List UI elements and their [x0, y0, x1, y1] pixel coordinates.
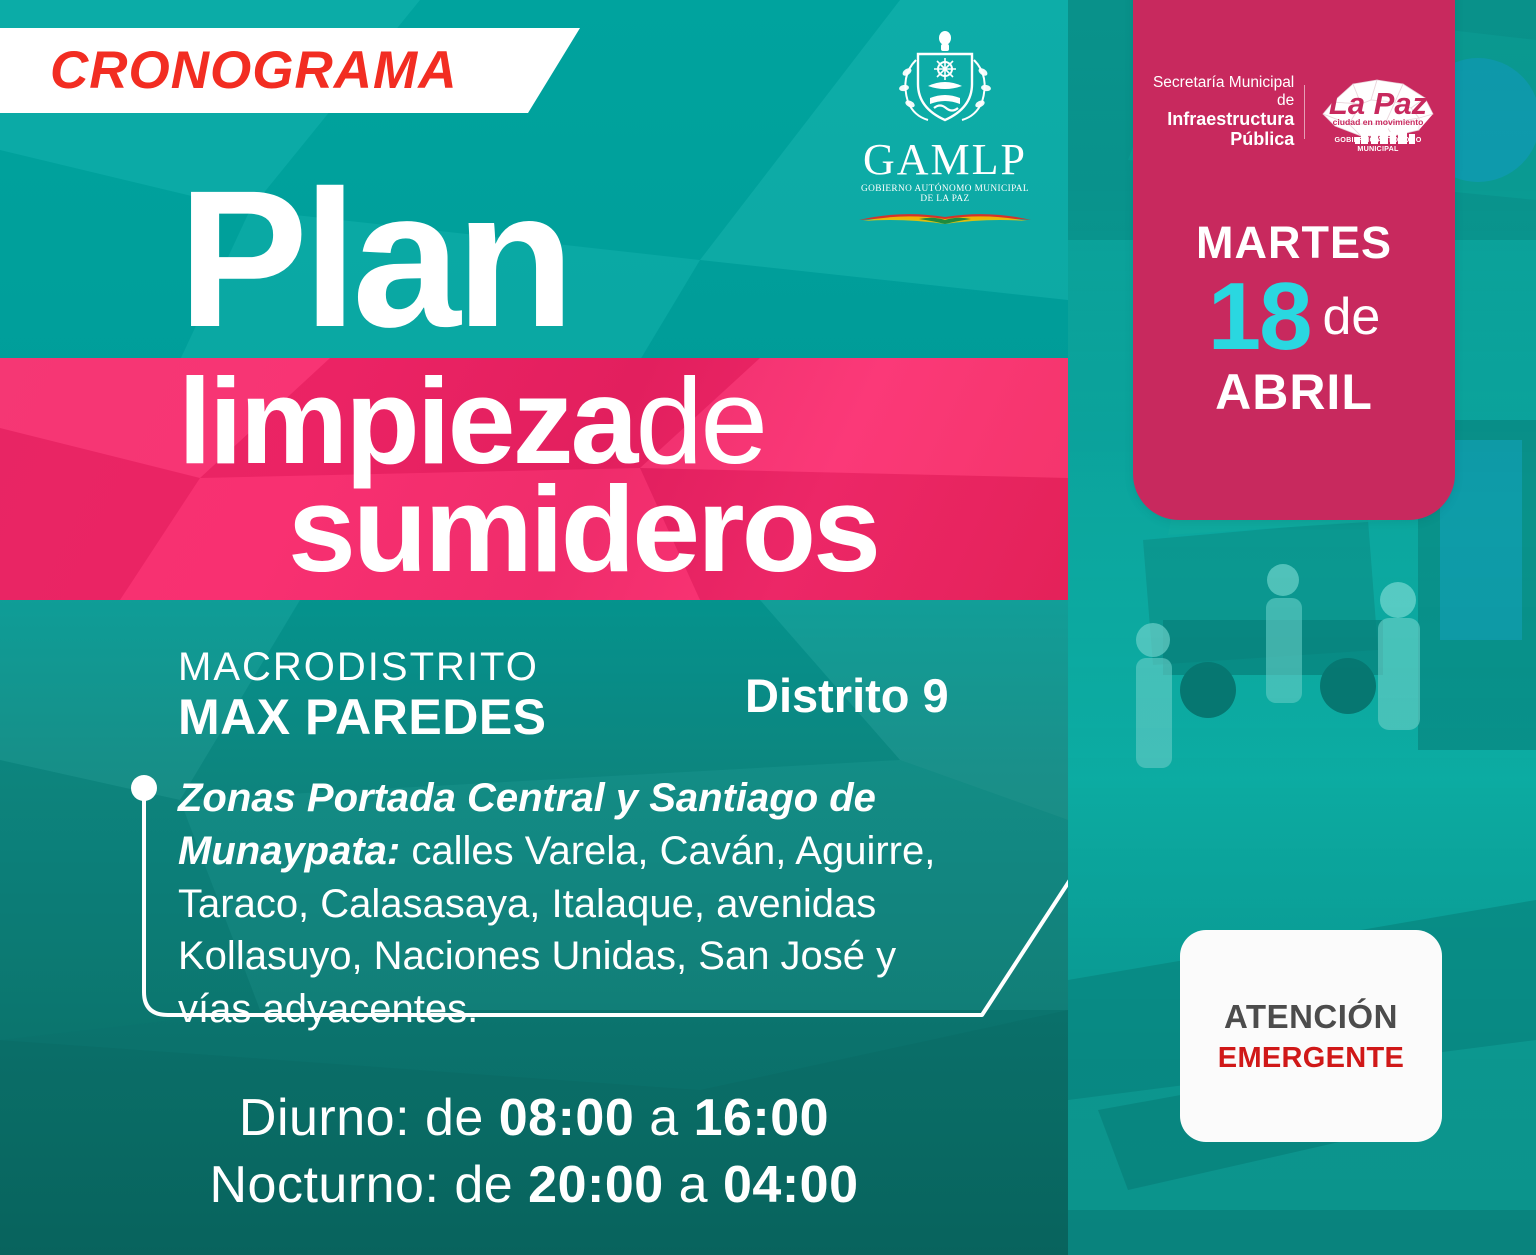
bolivia-flag-ribbon-icon	[857, 208, 1033, 228]
gamlp-subtitle: GOBIERNO AUTÓNOMO MUNICIPAL DE LA PAZ	[855, 184, 1035, 204]
svg-text:ciudad en movimiento: ciudad en movimiento	[1333, 117, 1424, 127]
attention-badge: ATENCIÓN EMERGENTE	[1180, 930, 1442, 1142]
schedule-day-end: 16:00	[694, 1089, 830, 1147]
secretaria-text: Secretaría Municipal de Infraestructura …	[1151, 74, 1294, 149]
schedule-block: Diurno: de 08:00 a 16:00 Nocturno: de 20…	[0, 1085, 1068, 1218]
title-line-sumideros: sumideros	[288, 468, 878, 590]
date-month: ABRIL	[1133, 367, 1455, 417]
schedule-night-end: 04:00	[723, 1156, 859, 1214]
lapaz-logo: La Paz ciudad en movimiento GOBIERNO AUT…	[1315, 74, 1441, 150]
macrodistrict-block: MACRODISTRITO MAX PAREDES	[178, 645, 547, 747]
date-card: Secretaría Municipal de Infraestructura …	[1133, 0, 1455, 520]
cronograma-banner: CRONOGRAMA	[0, 28, 580, 113]
date-connector: de	[1322, 288, 1380, 346]
cronograma-label: CRONOGRAMA	[50, 40, 457, 101]
secretaria-logo: Secretaría Municipal de Infraestructura …	[1151, 74, 1441, 150]
schedule-night-start: 20:00	[528, 1156, 664, 1214]
schedule-night-sep: a	[679, 1156, 708, 1214]
schedule-day-row: Diurno: de 08:00 a 16:00	[0, 1085, 1068, 1152]
attention-title: ATENCIÓN	[1224, 998, 1398, 1036]
macrodistrict-label: MACRODISTRITO	[178, 645, 547, 689]
coat-of-arms-icon	[890, 28, 1000, 136]
date-day-number: 18	[1208, 263, 1311, 370]
gamlp-logo: GAMLP GOBIERNO AUTÓNOMO MUNICIPAL DE LA …	[855, 28, 1035, 228]
gamlp-acronym: GAMLP	[855, 138, 1035, 182]
svg-text:La Paz: La Paz	[1329, 86, 1428, 121]
secretaria-line1: Secretaría Municipal de	[1151, 74, 1294, 109]
schedule-night-label: Nocturno: de	[209, 1156, 513, 1214]
district-number: Distrito 9	[745, 668, 949, 723]
schedule-day-label: Diurno: de	[239, 1089, 484, 1147]
title-line-plan: Plan	[178, 172, 570, 348]
secretaria-line2: Infraestructura Pública	[1151, 109, 1294, 149]
date-day-row: 18de	[1133, 269, 1455, 365]
date-weekday: MARTES	[1133, 220, 1455, 265]
schedule-day-sep: a	[649, 1089, 678, 1147]
zone-street-list: Zonas Portada Central y Santiago de Muna…	[178, 772, 968, 1036]
date-block: MARTES 18de ABRIL	[1133, 220, 1455, 417]
macrodistrict-name: MAX PAREDES	[178, 689, 547, 747]
schedule-night-row: Nocturno: de 20:00 a 04:00	[0, 1152, 1068, 1219]
attention-subtitle: EMERGENTE	[1218, 1042, 1404, 1075]
schedule-day-start: 08:00	[499, 1089, 635, 1147]
poster-root: CRONOGRAMA Plan limpiezade sumideros MAC…	[0, 0, 1536, 1255]
logo-divider	[1304, 85, 1305, 139]
lapaz-footer: GOBIERNO AUTÓNOMO MUNICIPAL	[1315, 135, 1441, 153]
